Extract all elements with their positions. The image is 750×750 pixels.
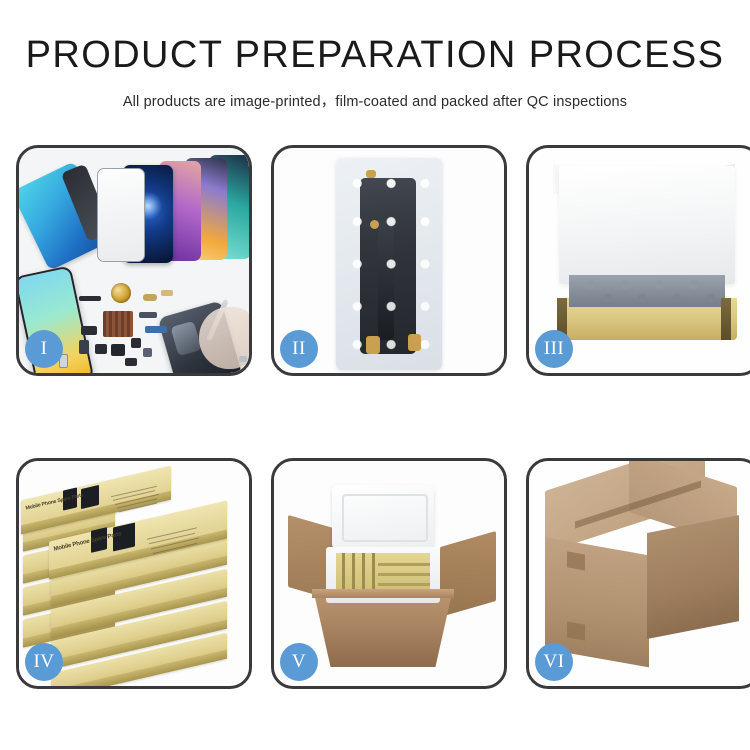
small-part-icon — [143, 294, 157, 301]
screen-glass-icon — [97, 168, 145, 262]
small-part-icon — [143, 348, 152, 357]
small-part-icon — [79, 340, 89, 354]
coil-component-icon — [111, 283, 131, 303]
chip-grid-icon — [103, 311, 133, 337]
small-part-icon — [131, 338, 141, 348]
bubble-wrap-bag-icon — [336, 158, 442, 370]
step-badge-4: IV — [25, 643, 63, 681]
step-badge-1: I — [25, 330, 63, 368]
carton-rim-icon — [312, 589, 454, 598]
small-part-icon — [139, 312, 157, 318]
step-panel-5: V — [271, 458, 507, 689]
gold-tape-icon — [408, 334, 421, 351]
gold-tape-icon — [370, 220, 379, 229]
small-part-icon — [239, 356, 247, 362]
small-part-icon — [81, 326, 97, 335]
carton-body-icon — [314, 593, 452, 667]
bubble-wrapped-contents-icon — [569, 275, 725, 307]
step-badge-5: V — [280, 643, 318, 681]
carton-tape-icon — [567, 551, 585, 570]
step-panel-3: III — [526, 145, 750, 376]
small-part-icon — [125, 358, 137, 366]
step-badge-3: III — [535, 330, 573, 368]
page-subtitle: All products are image-printed，film-coat… — [0, 90, 750, 111]
carton-side-face-icon — [647, 515, 739, 639]
step-panel-4: Mobile Phone Spare Parts Mobile Phone Sp… — [16, 458, 252, 689]
process-steps-grid: I II — [16, 145, 734, 689]
step-panel-1: I — [16, 145, 252, 376]
step-panel-2: II — [271, 145, 507, 376]
page-header: PRODUCT PREPARATION PROCESS All products… — [0, 0, 750, 111]
foam-lid-icon — [332, 485, 434, 549]
gold-tape-icon — [366, 336, 380, 354]
small-part-icon — [79, 296, 101, 301]
page-title: PRODUCT PREPARATION PROCESS — [0, 36, 750, 76]
step-badge-2: II — [280, 330, 318, 368]
gold-tape-icon — [366, 170, 376, 178]
product-preparation-page: PRODUCT PREPARATION PROCESS All products… — [0, 0, 750, 750]
small-part-icon — [95, 344, 107, 354]
small-part-icon — [145, 326, 167, 333]
step-panel-6: VI — [526, 458, 750, 689]
box-edge-right-icon — [721, 298, 731, 340]
small-part-icon — [111, 344, 125, 356]
foam-sheet-icon — [559, 166, 735, 284]
small-part-icon — [161, 290, 173, 296]
step-badge-6: VI — [535, 643, 573, 681]
carton-tape-icon — [567, 621, 585, 640]
